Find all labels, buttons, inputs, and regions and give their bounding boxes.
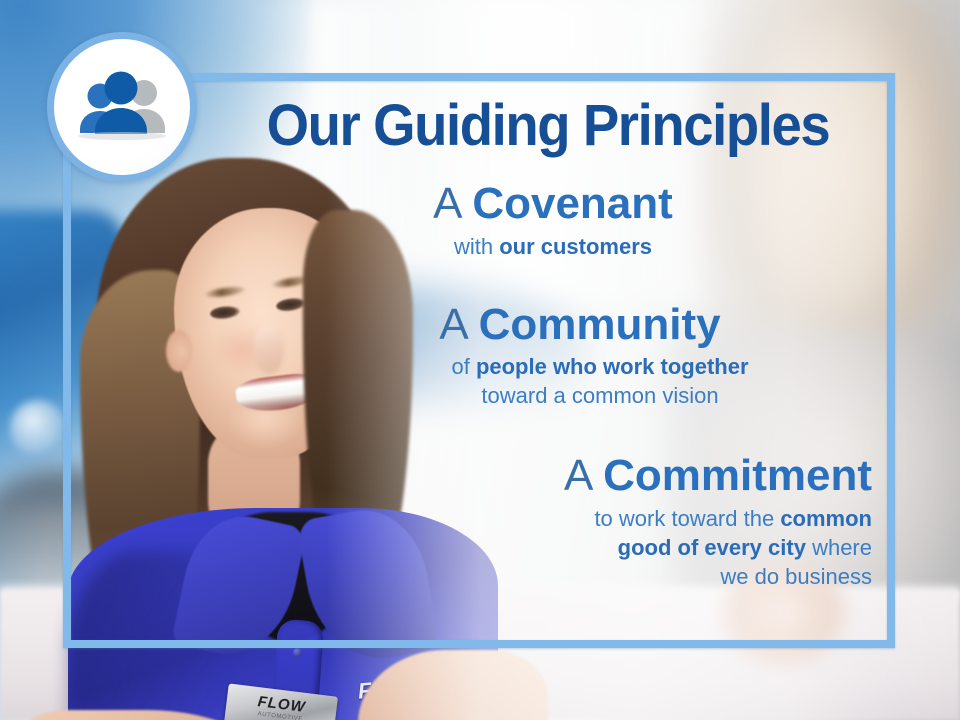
subtext-line: of people who work together	[340, 352, 860, 381]
subtext-line: we do business	[300, 562, 872, 591]
principle-title: A Community	[300, 301, 860, 349]
subtext-bold: common	[780, 506, 872, 531]
ear	[166, 330, 192, 372]
principle-commitment: A Commitment to work toward the common g…	[300, 452, 880, 591]
principles-list: A Covenant with our customers A Communit…	[300, 180, 880, 607]
subtext-bold: our customers	[499, 234, 652, 259]
principle-word: Community	[479, 300, 721, 349]
people-badge-circle	[47, 32, 197, 182]
principle-article: A	[439, 300, 466, 349]
guiding-principles-graphic: FLOW AUTOMOTIVE FLOW	[0, 0, 960, 720]
chin-highlight	[228, 408, 302, 448]
people-group-icon	[54, 39, 190, 175]
subtext-plain: of	[451, 354, 475, 379]
principle-community: A Community of people who work together …	[300, 301, 880, 411]
subtext-line: good of every city where	[300, 533, 872, 562]
principle-word: Covenant	[472, 179, 672, 228]
subtext-bold: people who work together	[476, 354, 749, 379]
principle-title: A Commitment	[300, 452, 872, 500]
principle-subtext: with our customers	[300, 232, 806, 261]
principle-article: A	[564, 451, 591, 500]
principle-subtext: of people who work together toward a com…	[300, 352, 860, 410]
nose	[254, 326, 284, 374]
principle-covenant: A Covenant with our customers	[300, 180, 880, 261]
shirt-button	[293, 648, 302, 657]
subtext-plain: to work toward the	[594, 506, 780, 531]
subtext-plain: with	[454, 234, 499, 259]
subtext-bold: good of every city	[618, 535, 806, 560]
page-title: Our Guiding Principles	[238, 96, 858, 157]
principle-word: Commitment	[603, 451, 872, 500]
principle-article: A	[433, 179, 460, 228]
principle-title: A Covenant	[300, 180, 806, 228]
subtext-plain: where	[806, 535, 872, 560]
principle-subtext: to work toward the common good of every …	[300, 504, 872, 591]
subtext-line: to work toward the common	[300, 504, 872, 533]
subtext-line: toward a common vision	[340, 381, 860, 410]
